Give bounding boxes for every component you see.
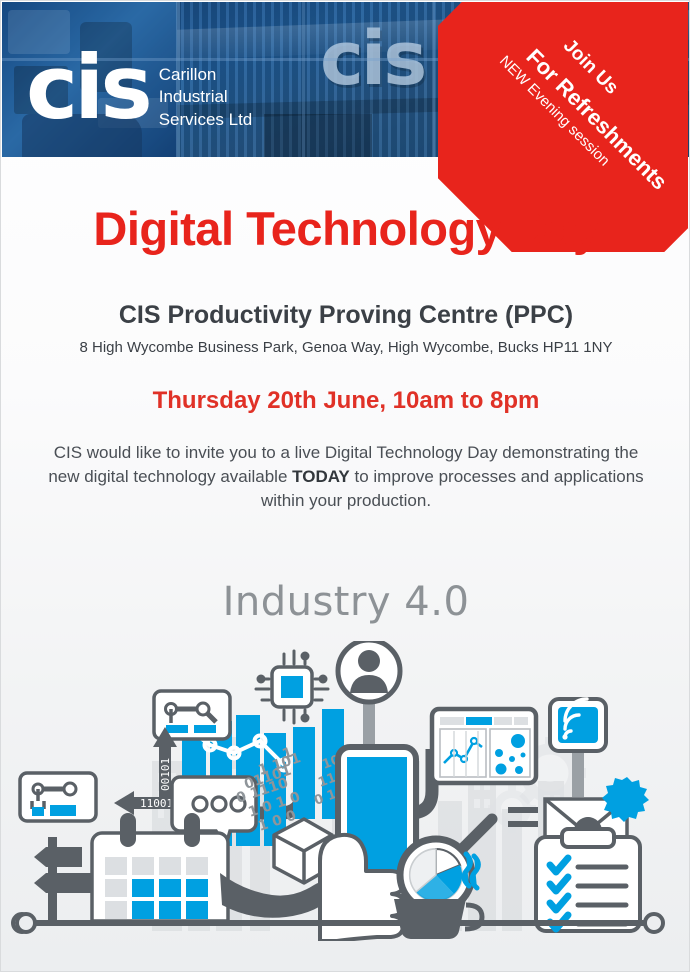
logo-company-line-2: Industrial: [159, 86, 253, 108]
binary-label-vertical: 00101: [159, 758, 172, 791]
binary-label-arrow: 11001: [140, 797, 173, 810]
venue-address: 8 High Wycombe Business Park, Genoa Way,…: [1, 339, 690, 356]
logo-company-line-3: Services Ltd: [159, 109, 253, 131]
logo-company-name: Carillon Industrial Services Ltd: [159, 64, 253, 131]
cis-logo: cis Carillon Industrial Services Ltd: [26, 54, 252, 131]
venue-name: CIS Productivity Proving Centre (PPC): [1, 301, 690, 330]
event-description: CIS would like to invite you to a live D…: [46, 441, 646, 513]
dashboard-screen-icon: [432, 709, 536, 783]
microchip-icon: [256, 651, 328, 723]
logo-company-line-1: Carillon: [159, 64, 253, 86]
industry40-illustration: .dk{fill:#5a6066}.dkS{stroke:#5a6066;fil…: [2, 641, 690, 941]
event-datetime: Thursday 20th June, 10am to 8pm: [1, 387, 690, 415]
page-title: Digital Technology Day: [1, 201, 690, 256]
flyer-page: cis P cis Carillon Industrial Services L…: [0, 0, 690, 972]
description-emphasis: TODAY: [292, 467, 350, 486]
user-avatar-icon: [338, 641, 400, 749]
robot-arm-gripper-icon: [20, 773, 96, 821]
logo-wordmark: cis: [26, 54, 149, 123]
section-heading: Industry 4.0: [1, 579, 690, 625]
